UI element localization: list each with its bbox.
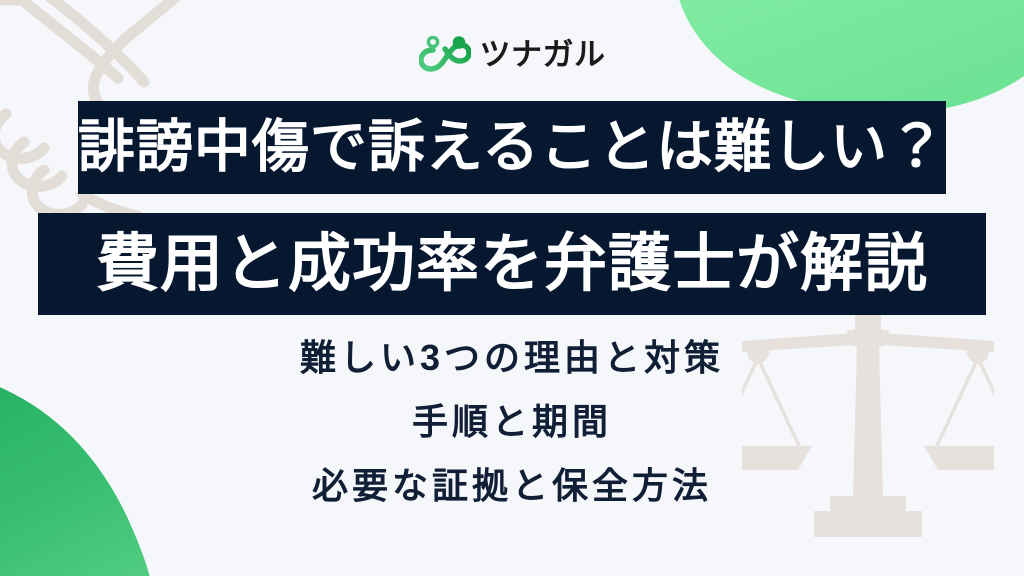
headline-text-1: 誹謗中傷で訴えることは難しい？	[78, 119, 946, 176]
subtitle-line: 必要な証拠と保全方法	[312, 468, 712, 504]
headline-text-2: 費用と成功率を弁護士が解説	[96, 233, 928, 296]
brand-logo-text: ツナガル	[480, 39, 606, 70]
tsunagaru-infinity-logo-icon	[419, 36, 471, 72]
headline-bar-secondary: 費用と成功率を弁護士が解説	[38, 213, 986, 315]
brand-logo: ツナガル	[0, 31, 1024, 77]
subtitle-list: 難しい3つの理由と対策 手順と期間 必要な証拠と保全方法	[0, 340, 1024, 504]
eyecatch-canvas: ツナガル 誹謗中傷で訴えることは難しい？ 費用と成功率を弁護士が解説 難しい3つ…	[0, 0, 1024, 576]
subtitle-line: 手順と期間	[412, 404, 612, 440]
headline-bar-primary: 誹謗中傷で訴えることは難しい？	[78, 101, 946, 194]
subtitle-line: 難しい3つの理由と対策	[300, 340, 724, 376]
